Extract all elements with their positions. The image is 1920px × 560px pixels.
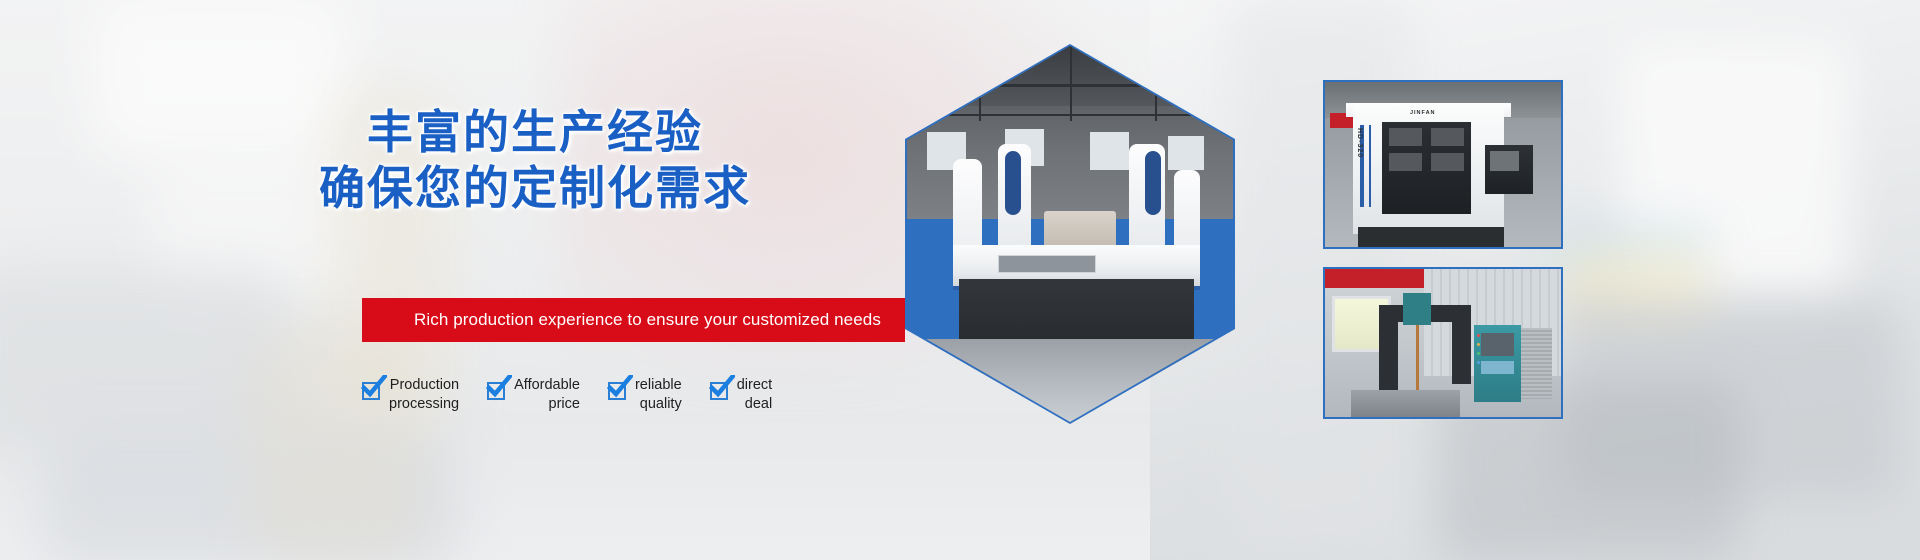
- machine-column-window: [1005, 151, 1021, 215]
- edm-gantry-leg: [1452, 313, 1471, 384]
- feature-label: Production processing: [389, 370, 459, 414]
- roof-post: [1155, 46, 1157, 121]
- roof-post: [1070, 46, 1072, 121]
- feature-item[interactable]: direct deal: [710, 370, 772, 414]
- door-window: [1431, 128, 1464, 146]
- machine-bed-window: [998, 255, 1096, 274]
- edm-control-keypad: [1481, 361, 1514, 374]
- workshop-window: [1090, 132, 1129, 170]
- feature-item[interactable]: reliable quality: [608, 370, 682, 414]
- edm-head: [1403, 293, 1431, 326]
- machine-plinth: [1358, 227, 1504, 247]
- machine-brand-label: JINFAN: [1410, 110, 1436, 116]
- checkbox-checked-icon: [487, 382, 505, 400]
- checkbox-checked-icon: [710, 382, 728, 400]
- hexagon-photo-frame: [905, 44, 1235, 424]
- machine-control-screen: [1490, 151, 1518, 171]
- headline-line-1: 丰富的生产经验: [367, 106, 703, 158]
- hd-320-machining-center-photo[interactable]: JINFAN HD-320: [1323, 80, 1563, 249]
- feature-item[interactable]: Production processing: [362, 370, 459, 414]
- feature-label: reliable quality: [635, 370, 682, 414]
- machine-model-label: HD-320: [1356, 128, 1363, 158]
- machine-blue-stripe: [1369, 125, 1371, 208]
- machine-column-window: [1145, 151, 1161, 215]
- hexagon-photo-clip: [907, 46, 1233, 422]
- indicator-light: [1477, 361, 1480, 364]
- edm-electrode-rod: [1416, 325, 1419, 393]
- edm-control-screen: [1481, 333, 1514, 357]
- checkbox-checked-icon: [608, 382, 626, 400]
- subbanner-text: Rich production experience to ensure you…: [362, 310, 881, 330]
- subbanner: Rich production experience to ensure you…: [362, 298, 905, 342]
- feature-label: Affordable price: [514, 370, 580, 414]
- hero-banner: 丰富的生产经验 确保您的定制化需求 Rich production experi…: [0, 0, 1920, 560]
- door-window: [1389, 153, 1422, 171]
- checkbox-checked-icon: [362, 382, 380, 400]
- edm-gantry-leg: [1379, 313, 1398, 399]
- edm-cooling-rack: [1521, 328, 1552, 399]
- door-window: [1389, 128, 1422, 146]
- feature-label: direct deal: [737, 370, 772, 414]
- feature-list: Production processing Affordable price r…: [362, 370, 907, 420]
- workshop-window: [1168, 136, 1204, 170]
- thumb-bottom-red-sign: [1325, 269, 1424, 288]
- feature-item[interactable]: Affordable price: [487, 370, 580, 414]
- roof-post: [979, 46, 981, 121]
- headline-line-2: 确保您的定制化需求: [300, 160, 770, 216]
- headline: 丰富的生产经验 确保您的定制化需求: [300, 104, 770, 216]
- edm-spark-machine-photo[interactable]: [1323, 267, 1563, 419]
- door-window: [1431, 153, 1464, 171]
- edm-work-tank: [1351, 390, 1460, 417]
- workshop-floor: [907, 339, 1233, 422]
- cnc-double-head-machine-photo: [907, 46, 1233, 422]
